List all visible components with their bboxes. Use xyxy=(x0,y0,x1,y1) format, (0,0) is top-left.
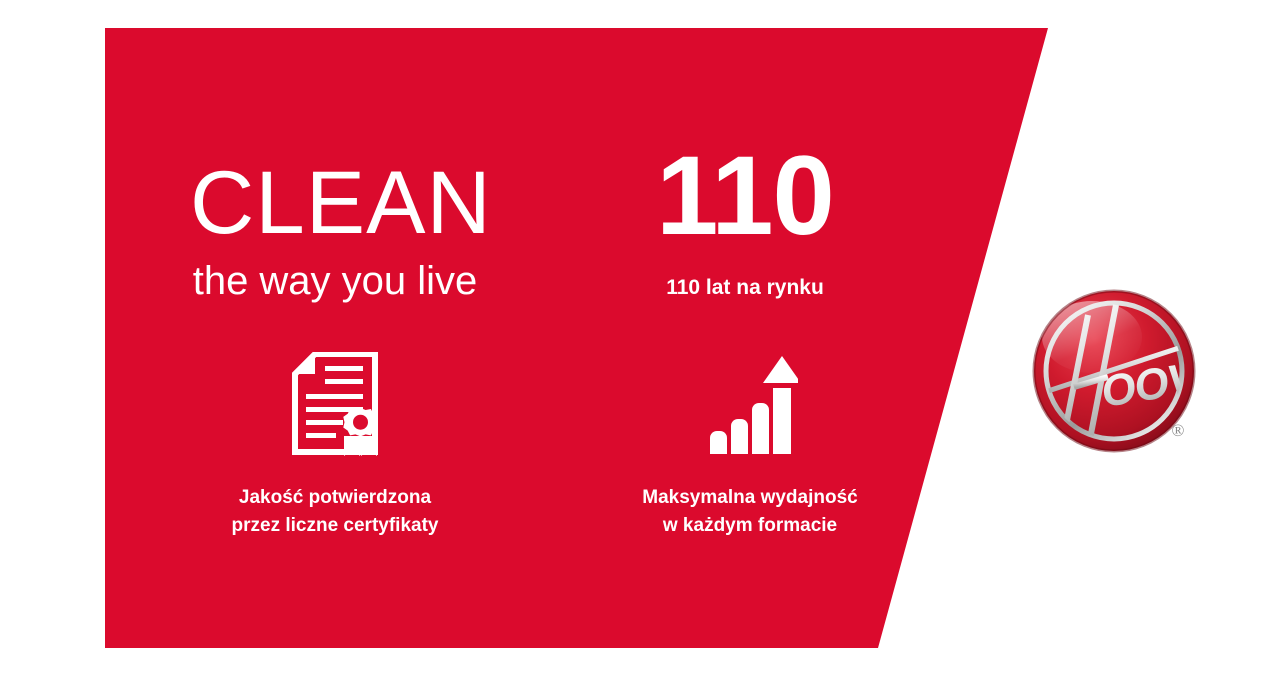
certificate-icon xyxy=(287,352,383,456)
feature-label: Jakość potwierdzona przez liczne certyfi… xyxy=(185,484,485,539)
years-caption: 110 lat na rynku xyxy=(605,276,885,300)
feature-label: Maksymalna wydajność w każdym formacie xyxy=(600,484,900,539)
registered-trademark-icon: ® xyxy=(1168,421,1188,441)
feature-performance: Maksymalna wydajność w każdym formacie xyxy=(600,348,900,539)
hoover-promo-banner: CLEAN the way you live 110 110 lat na ry… xyxy=(0,0,1265,697)
red-angled-panel xyxy=(105,28,1050,648)
years-number: 110 xyxy=(605,140,885,252)
growth-chart-icon xyxy=(702,352,798,456)
feature-icon-wrapper xyxy=(185,348,485,456)
feature-label-line1: Maksymalna wydajność xyxy=(642,487,857,508)
years-block: 110 110 lat na rynku xyxy=(605,140,885,300)
feature-label-line2: w każdym formacie xyxy=(663,515,837,536)
feature-label-line1: Jakość potwierdzona xyxy=(239,487,431,508)
slogan-title: CLEAN xyxy=(190,158,480,247)
feature-quality: Jakość potwierdzona przez liczne certyfi… xyxy=(185,348,485,539)
slogan-block: CLEAN the way you live xyxy=(190,158,480,303)
slogan-subtitle: the way you live xyxy=(190,259,480,303)
hoover-logo: OOVER ® xyxy=(1032,289,1200,457)
feature-icon-wrapper xyxy=(600,348,900,456)
feature-label-line2: przez liczne certyfikaty xyxy=(232,515,439,536)
